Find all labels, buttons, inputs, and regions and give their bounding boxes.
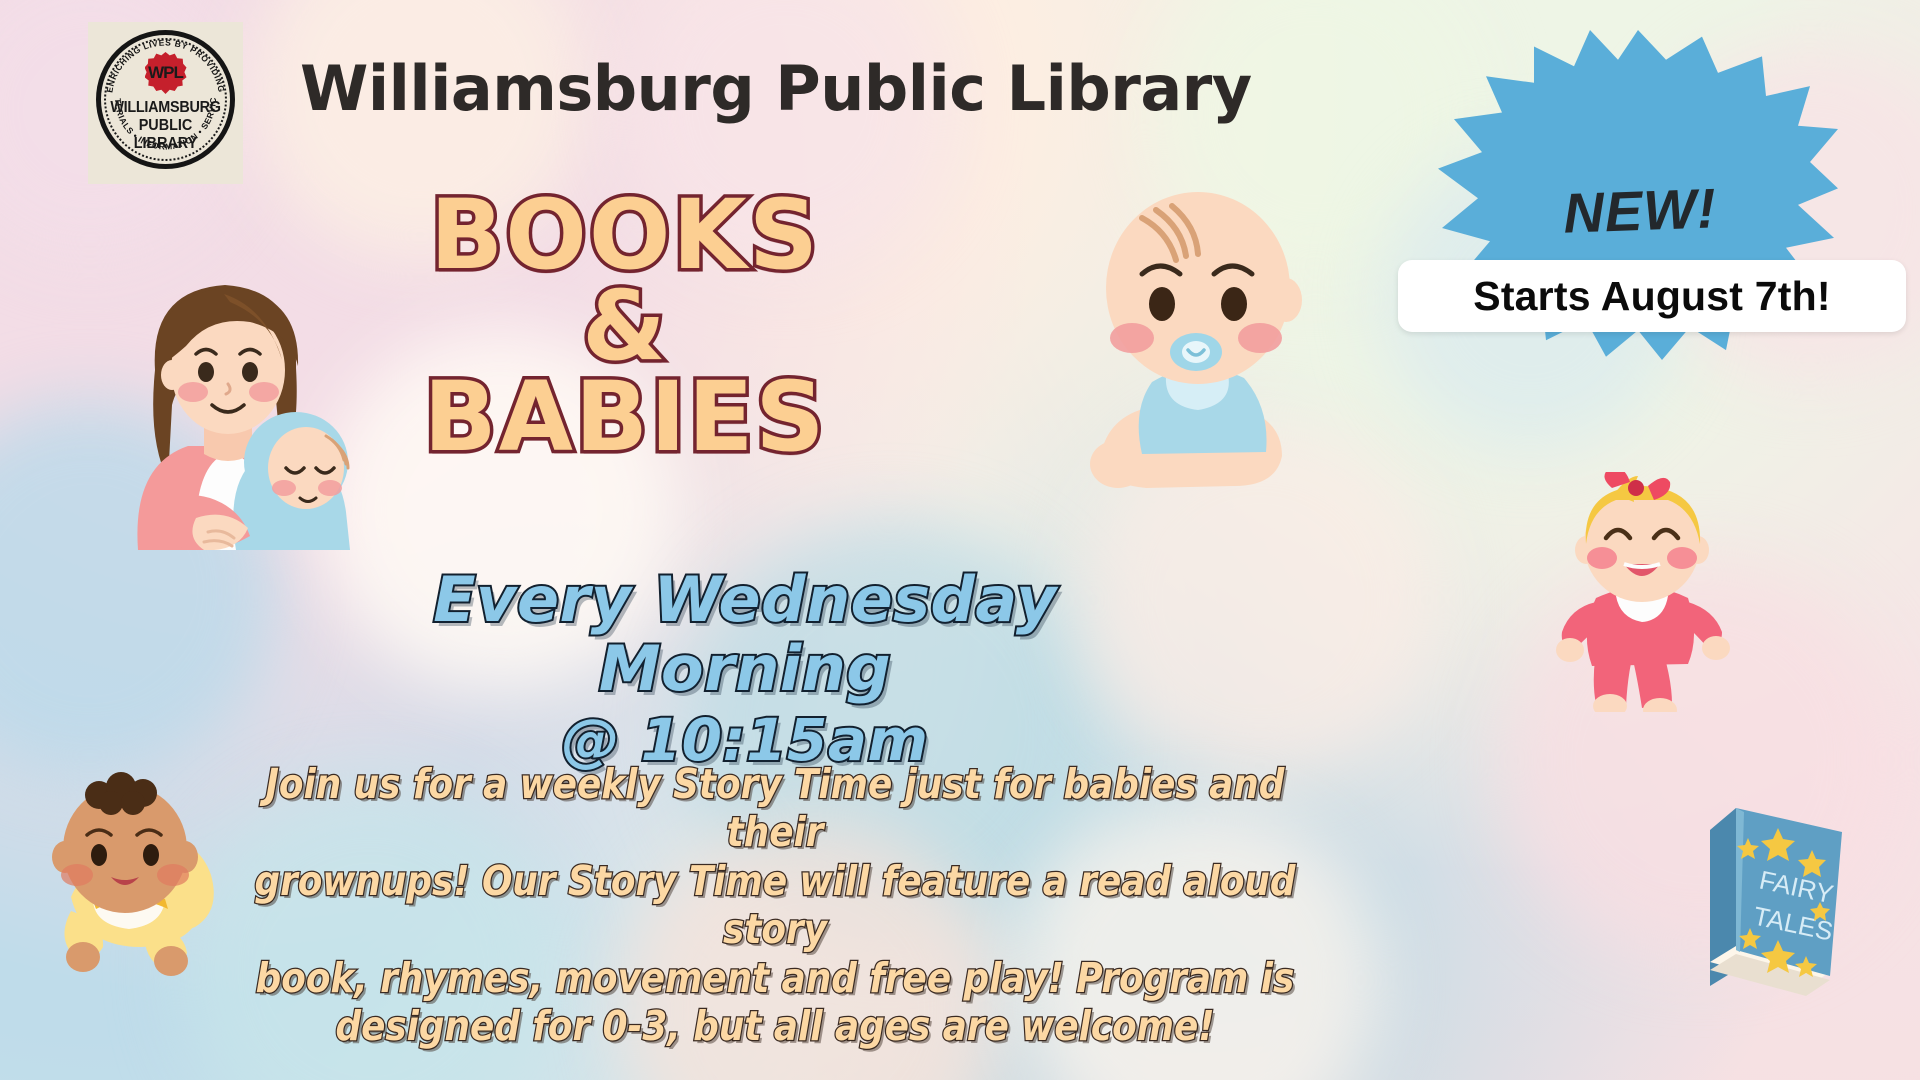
fairy-tales-book-illustration: FAIRY TALES — [1700, 790, 1890, 1000]
description-line: book, rhymes, movement and free play! Pr… — [246, 954, 1303, 1002]
program-title-line2: BABIES — [390, 372, 860, 463]
mother-baby-illustration — [100, 250, 360, 550]
schedule-day: Every Wednesday Morning — [330, 565, 1160, 704]
description-line: Join us for a weekly Story Time just for… — [246, 760, 1303, 857]
schedule-block: Every Wednesday Morning @ 10:15am — [330, 565, 1160, 773]
start-date-banner: Starts August 7th! — [1398, 260, 1906, 332]
poster-canvas: ENRICHING LIVES BY PROVIDING MATERIALS •… — [0, 0, 1920, 1080]
program-title: BOOKS & BABIES — [390, 190, 860, 464]
library-name-heading: Williamsburg Public Library — [300, 52, 1150, 125]
sitting-baby-illustration — [1070, 170, 1320, 500]
logo-name-line2: PUBLIC — [96, 118, 236, 134]
baby-girl-illustration — [1548, 472, 1748, 712]
logo-name-line1: WILLIAMSBURG — [96, 100, 236, 116]
logo-name-block: WILLIAMSBURG PUBLIC LIBRARY — [88, 100, 243, 152]
program-title-line1: BOOKS & — [390, 190, 860, 372]
logo-seal-text: WPL — [148, 63, 183, 83]
library-logo: ENRICHING LIVES BY PROVIDING MATERIALS •… — [88, 22, 243, 184]
crawling-baby-illustration — [25, 765, 240, 980]
new-badge-text: NEW! — [1519, 174, 1761, 247]
start-date-text: Starts August 7th! — [1473, 273, 1830, 320]
description-line: designed for 0-3, but all ages are welco… — [246, 1002, 1303, 1050]
description-block: Join us for a weekly Story Time just for… — [230, 760, 1320, 1050]
description-line: grownups! Our Story Time will feature a … — [246, 857, 1303, 954]
logo-name-line3: LIBRARY — [96, 136, 236, 152]
